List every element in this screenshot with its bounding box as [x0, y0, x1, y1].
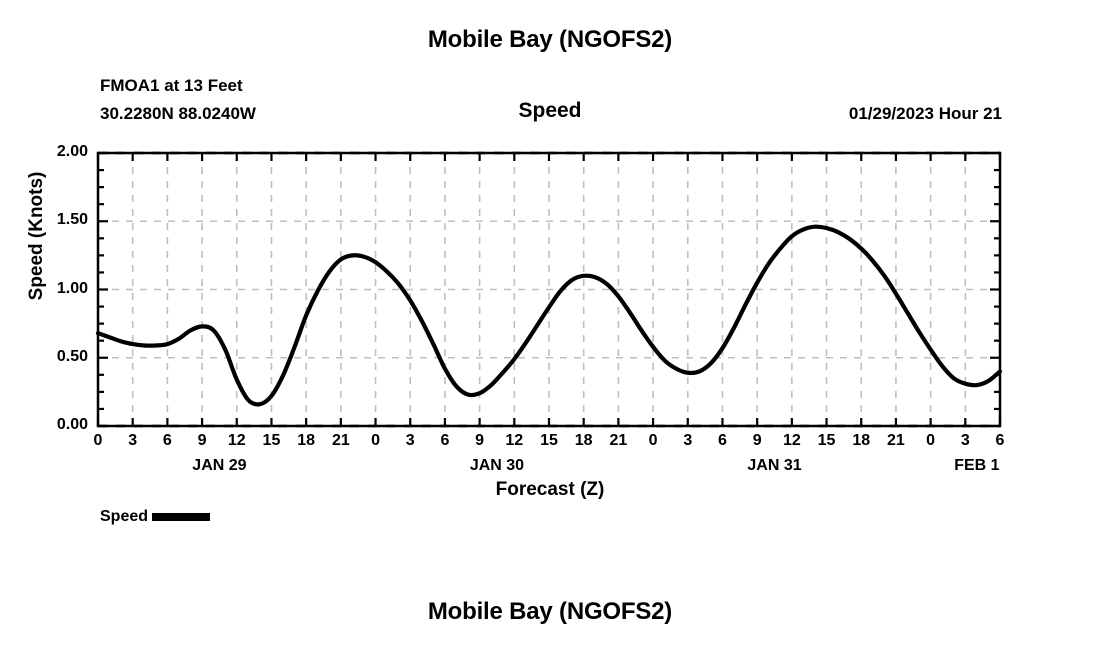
x-tick-label: 12 [222, 432, 252, 450]
y-tick-label: 1.50 [32, 211, 88, 229]
x-tick-label: 3 [118, 432, 148, 450]
x-tick-label: 12 [499, 432, 529, 450]
y-tick-label: 0.50 [32, 348, 88, 366]
x-tick-label: 0 [361, 432, 391, 450]
x-tick-label: 15 [534, 432, 564, 450]
x-tick-label: 18 [846, 432, 876, 450]
x-tick-label: 18 [569, 432, 599, 450]
chart-page: Mobile Bay (NGOFS2) FMOA1 at 13 Feet 30.… [0, 0, 1100, 650]
legend-label: Speed [100, 508, 148, 526]
grid-lines [98, 153, 1000, 426]
day-label: FEB 1 [917, 457, 1037, 475]
x-tick-label: 21 [881, 432, 911, 450]
day-label: JAN 30 [437, 457, 557, 475]
x-tick-label: 15 [256, 432, 286, 450]
x-tick-label: 6 [152, 432, 182, 450]
x-tick-label: 0 [916, 432, 946, 450]
x-tick-label: 0 [638, 432, 668, 450]
x-tick-label: 18 [291, 432, 321, 450]
day-label: JAN 29 [159, 457, 279, 475]
x-tick-label: 9 [465, 432, 495, 450]
legend: Speed [100, 508, 210, 526]
y-tick-label: 1.00 [32, 280, 88, 298]
page-title-bottom: Mobile Bay (NGOFS2) [0, 598, 1100, 626]
x-tick-label: 6 [985, 432, 1015, 450]
x-tick-label: 9 [187, 432, 217, 450]
x-tick-label: 6 [707, 432, 737, 450]
speed-time-series-plot [0, 0, 1100, 650]
y-tick-label: 0.00 [32, 416, 88, 434]
x-tick-label: 9 [742, 432, 772, 450]
y-tick-label: 2.00 [32, 143, 88, 161]
x-tick-label: 6 [430, 432, 460, 450]
x-tick-label: 15 [812, 432, 842, 450]
x-tick-label: 21 [326, 432, 356, 450]
legend-line-swatch [152, 513, 210, 521]
x-tick-label: 0 [83, 432, 113, 450]
day-label: JAN 31 [715, 457, 835, 475]
x-tick-label: 3 [395, 432, 425, 450]
x-tick-label: 12 [777, 432, 807, 450]
x-tick-label: 21 [603, 432, 633, 450]
x-tick-label: 3 [673, 432, 703, 450]
x-tick-label: 3 [950, 432, 980, 450]
